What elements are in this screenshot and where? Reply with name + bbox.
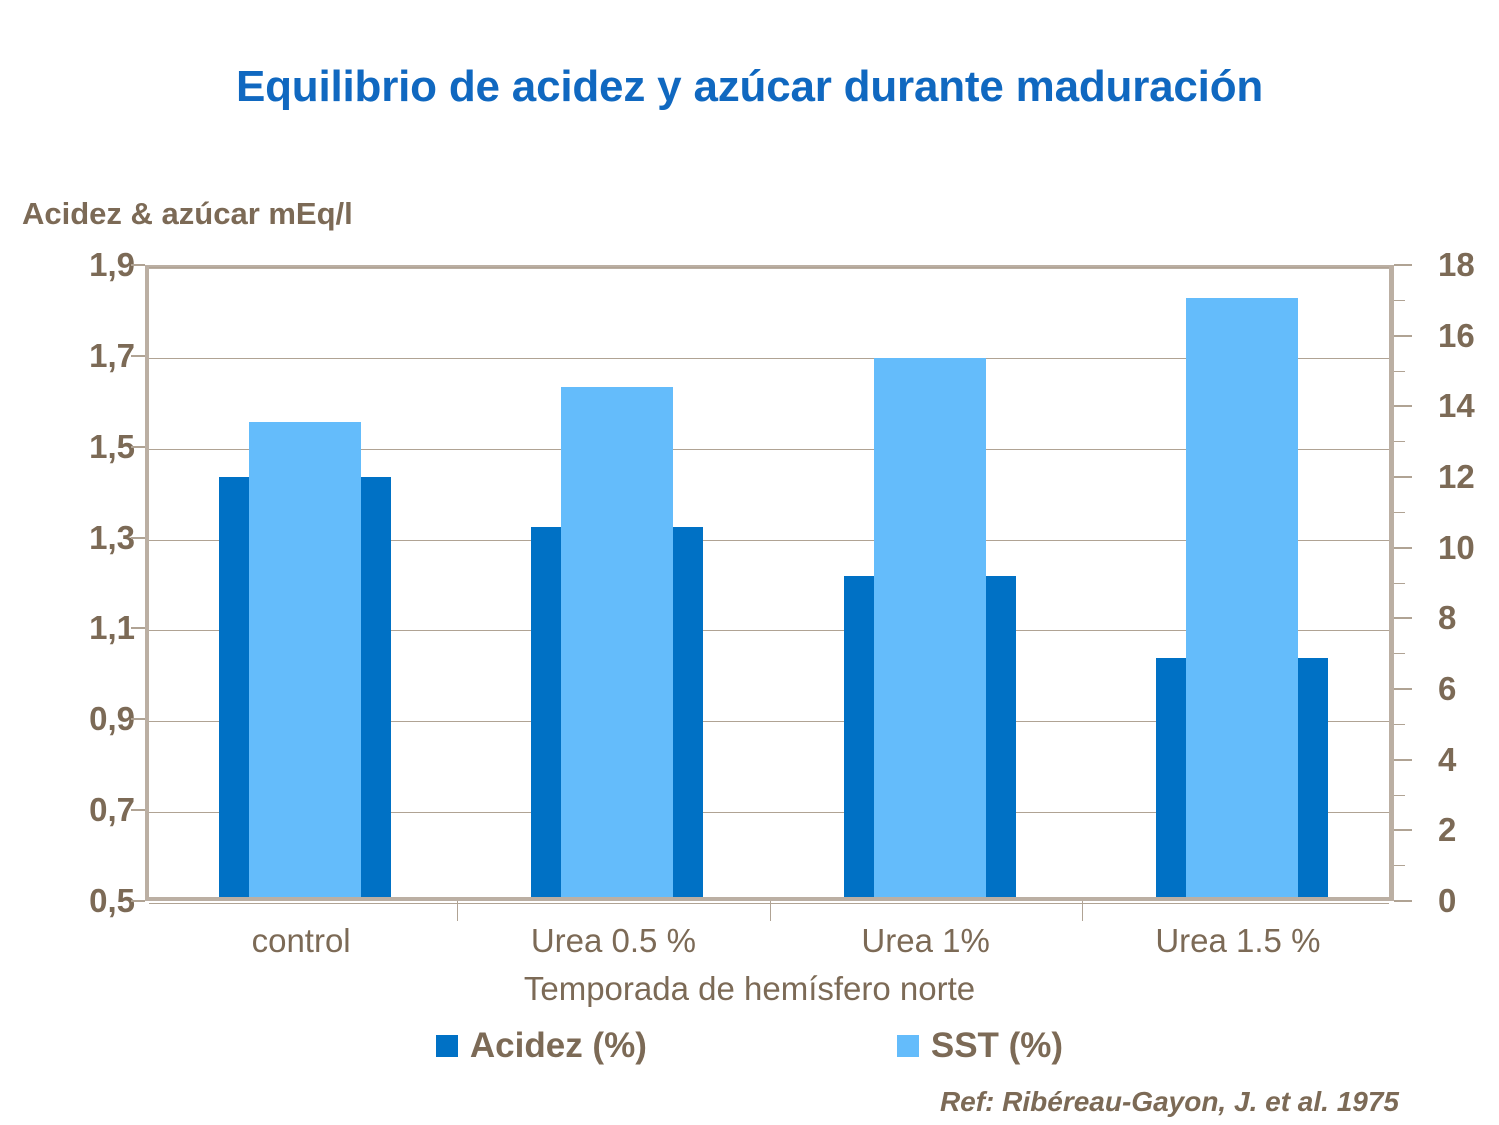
right-axis-tick-label: 14 [1438,387,1498,425]
right-axis-minor-tick-mark [1394,724,1405,725]
left-axis-tick-label: 1,9 [15,246,135,284]
right-axis-tick-label: 0 [1438,882,1498,920]
right-axis-minor-tick-mark [1394,653,1405,654]
right-axis-tick-label: 2 [1438,811,1498,849]
y-axis-title: Acidez & azúcar mEq/l [22,196,353,232]
left-axis-tick-mark [131,446,145,448]
legend-item-acidez[interactable]: Acidez (%) [436,1026,647,1066]
right-axis-minor-tick-mark [1394,512,1405,513]
right-axis-minor-tick-mark [1394,865,1405,866]
right-axis-tick-label: 10 [1438,529,1498,567]
right-axis-minor-tick-mark [1394,300,1405,301]
right-axis-tick-mark [1394,476,1412,478]
left-axis-tick-label: 1,3 [15,519,135,557]
gridline [149,267,1389,268]
right-axis-minor-tick-mark [1394,441,1405,442]
right-axis-minor-tick-mark [1394,795,1405,796]
left-axis-tick-mark [131,264,145,266]
x-axis-title: Temporada de hemísfero norte [0,970,1499,1008]
bar-sst[interactable] [249,422,361,897]
right-axis-tick-label: 4 [1438,741,1498,779]
legend-label: Acidez (%) [470,1026,647,1066]
left-axis-tick-label: 0,5 [15,882,135,920]
left-axis-tick-label: 1,1 [15,609,135,647]
category-separator [457,901,458,921]
left-axis-tick-label: 1,5 [15,428,135,466]
right-axis-tick-mark [1394,900,1412,902]
right-axis-tick-mark [1394,617,1412,619]
plot-area [145,265,1394,901]
right-axis-minor-tick-mark [1394,371,1405,372]
bar-sst[interactable] [1186,298,1298,897]
right-axis-tick-label: 8 [1438,599,1498,637]
left-axis-tick-label: 1,7 [15,337,135,375]
left-axis-tick-mark [131,809,145,811]
right-axis-tick-mark [1394,688,1412,690]
chart-legend: Acidez (%) SST (%) [0,1026,1499,1066]
category-tick-label: control [252,922,351,960]
left-axis-tick-mark [131,900,145,902]
right-axis-tick-mark [1394,264,1412,266]
right-axis-tick-mark [1394,335,1412,337]
page-title: Equilibrio de acidez y azúcar durante ma… [0,62,1499,112]
left-axis-tick-label: 0,7 [15,791,135,829]
bar-sst[interactable] [561,387,673,897]
category-tick-label: Urea 1% [861,922,989,960]
category-tick-label: Urea 0.5 % [531,922,696,960]
right-axis-tick-label: 16 [1438,317,1498,355]
legend-label: SST (%) [931,1026,1063,1066]
right-axis-tick-label: 12 [1438,458,1498,496]
square-swatch-icon [436,1035,458,1057]
category-separator [770,901,771,921]
left-axis-tick-mark [131,718,145,720]
left-axis-tick-mark [131,355,145,357]
reference-note: Ref: Ribéreau-Gayon, J. et al. 1975 [940,1086,1399,1118]
right-axis-tick-mark [1394,547,1412,549]
left-axis-tick-label: 0,9 [15,700,135,738]
square-swatch-icon [897,1035,919,1057]
category-separator [1082,901,1083,921]
left-axis-tick-mark [131,627,145,629]
legend-item-sst[interactable]: SST (%) [897,1026,1063,1066]
left-axis-tick-mark [131,537,145,539]
right-axis-tick-label: 18 [1438,246,1498,284]
right-axis-tick-mark [1394,405,1412,407]
right-axis-tick-mark [1394,759,1412,761]
right-axis-tick-mark [1394,829,1412,831]
right-axis-tick-label: 6 [1438,670,1498,708]
right-axis-minor-tick-mark [1394,583,1405,584]
category-tick-label: Urea 1.5 % [1155,922,1320,960]
bar-sst[interactable] [874,358,986,897]
